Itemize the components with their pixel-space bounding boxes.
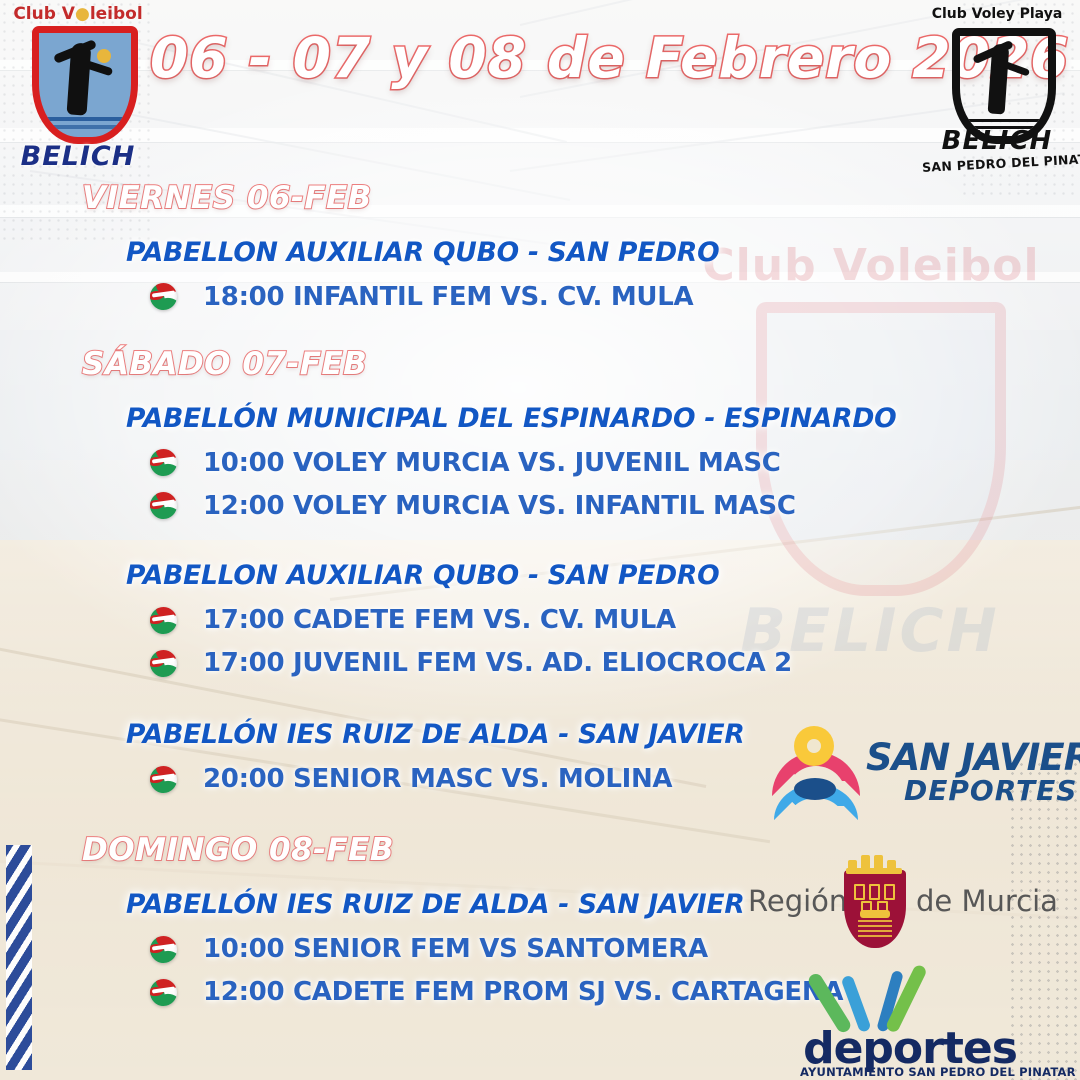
- ball-o-icon: ●: [75, 4, 90, 24]
- left-logo-top-text-1: Club V: [13, 4, 75, 24]
- match-row: 12:00 VOLEY MURCIA VS. INFANTIL MASC: [150, 491, 760, 521]
- volleyball-bullet-icon: [150, 449, 177, 476]
- match-text: 17:00 CADETE FEM VS. CV. MULA: [203, 605, 676, 635]
- match-text: 18:00 INFANTIL FEM VS. CV. MULA: [203, 282, 693, 312]
- venue-heading: PABELLÓN IES RUIZ DE ALDA - SAN JAVIER: [126, 718, 760, 751]
- venue-heading: PABELLÓN IES RUIZ DE ALDA - SAN JAVIER: [126, 888, 760, 921]
- right-logo-top-text: Club Voley Playa: [922, 6, 1072, 22]
- volleyball-bullet-icon: [150, 607, 177, 634]
- san-javier-deportes-logo: SAN JAVIER DEPORTES: [770, 722, 1010, 818]
- checkmark-swoosh-icon: [826, 965, 946, 1027]
- volleyball-bullet-icon: [150, 650, 177, 677]
- wave-icon: [963, 119, 1041, 122]
- right-logo-name: BELICH: [922, 126, 1072, 156]
- figure-body-icon: [794, 778, 836, 800]
- san-javier-figure-icon: [770, 726, 862, 814]
- match-row: 20:00 SENIOR MASC VS. MOLINA: [150, 764, 760, 794]
- figure-head-icon: [794, 726, 834, 766]
- shield-lines-icon: [858, 920, 892, 940]
- region-de-murcia-logo: Región de Murcia: [748, 848, 1018, 952]
- match-text: 10:00 VOLEY MURCIA VS. JUVENIL MASC: [203, 448, 781, 478]
- castle-icon: [854, 884, 896, 908]
- day-block: VIERNES 06-FEB PABELLON AUXILIAR QUBO - …: [0, 178, 760, 312]
- match-text: 10:00 SENIOR FEM VS SANTOMERA: [203, 934, 708, 964]
- volleyball-bullet-icon: [150, 283, 177, 310]
- day-block: DOMINGO 08-FEB PABELLÓN IES RUIZ DE ALDA…: [0, 830, 760, 1007]
- region-text-right: de Murcia: [916, 884, 1058, 918]
- san-javier-text: SAN JAVIER: [866, 736, 1080, 779]
- venue-heading: PABELLON AUXILIAR QUBO - SAN PEDRO: [126, 559, 760, 592]
- watermark-shield: [756, 302, 1006, 596]
- day-heading: DOMINGO 08-FEB: [82, 830, 760, 872]
- match-text: 12:00 VOLEY MURCIA VS. INFANTIL MASC: [203, 491, 796, 521]
- volleyball-icon: [97, 49, 111, 63]
- left-logo-top-text: Club V●leibol: [8, 4, 148, 24]
- match-text: 12:00 CADETE FEM PROM SJ VS. CARTAGENA: [203, 977, 843, 1007]
- poster: Club Voleibol BELICH Club V●leibol BELIC…: [0, 0, 1080, 1080]
- match-row: 10:00 SENIOR FEM VS SANTOMERA: [150, 934, 760, 964]
- page-title: 06 - 07 y 08 de Febrero 2026: [150, 26, 940, 90]
- san-javier-subtext: DEPORTES: [904, 774, 1077, 807]
- wave-icon: [51, 125, 121, 129]
- day-heading: SÁBADO 07-FEB: [82, 344, 760, 386]
- left-logo-shield: [32, 26, 138, 144]
- left-logo-name: BELICH: [8, 141, 148, 172]
- wave-icon: [43, 117, 127, 121]
- deportes-subtext: AYUNTAMIENTO SAN PEDRO DEL PINATAR: [800, 1065, 1020, 1079]
- match-text: 20:00 SENIOR MASC VS. MOLINA: [203, 764, 672, 794]
- venue-heading: PABELLON AUXILIAR QUBO - SAN PEDRO: [126, 236, 760, 269]
- volleyball-bullet-icon: [150, 492, 177, 519]
- schedule-list: VIERNES 06-FEB PABELLON AUXILIAR QUBO - …: [0, 178, 760, 1009]
- club-voleibol-belich-logo: Club V●leibol BELICH: [8, 4, 148, 172]
- region-text-left: Región: [748, 884, 847, 918]
- day-heading: VIERNES 06-FEB: [82, 178, 760, 220]
- match-row: 17:00 JUVENIL FEM VS. AD. ELIOCROCA 2: [150, 648, 760, 678]
- match-row: 12:00 CADETE FEM PROM SJ VS. CARTAGENA: [150, 977, 760, 1007]
- deportes-san-pedro-logo: deportes AYUNTAMIENTO SAN PEDRO DEL PINA…: [800, 965, 1020, 1077]
- crown-icon: [846, 852, 904, 874]
- volleyball-bullet-icon: [150, 766, 177, 793]
- match-row: 18:00 INFANTIL FEM VS. CV. MULA: [150, 282, 760, 312]
- club-voley-playa-belich-logo: Club Voley Playa BELICH SAN PEDRO DEL PI…: [922, 6, 1072, 191]
- volleyball-bullet-icon: [150, 979, 177, 1006]
- day-block: SÁBADO 07-FEB PABELLÓN MUNICIPAL DEL ESP…: [0, 344, 760, 794]
- match-text: 17:00 JUVENIL FEM VS. AD. ELIOCROCA 2: [203, 648, 792, 678]
- small-crown-icon: [860, 910, 890, 918]
- match-row: 17:00 CADETE FEM VS. CV. MULA: [150, 605, 760, 635]
- match-row: 10:00 VOLEY MURCIA VS. JUVENIL MASC: [150, 448, 760, 478]
- venue-heading: PABELLÓN MUNICIPAL DEL ESPINARDO - ESPIN…: [126, 402, 760, 435]
- left-logo-top-text-2: leibol: [90, 4, 143, 24]
- volleyball-bullet-icon: [150, 936, 177, 963]
